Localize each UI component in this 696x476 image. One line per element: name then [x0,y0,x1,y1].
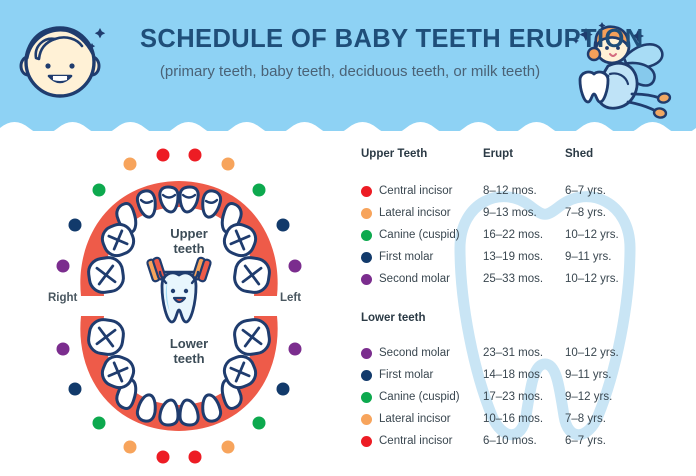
erupt-value: 10–16 mos. [483,414,543,426]
table-row: First molar 14–18 mos. 9–11 yrs. [352,366,682,387]
tooth-name: Canine (cuspid) [379,392,460,404]
table-row: Lateral incisor 9–13 mos. 7–8 yrs. [352,204,682,225]
dot-lateral-incisor [124,441,137,454]
erupt-value: 17–23 mos. [483,392,543,404]
shed-value: 9–11 yrs. [565,370,611,382]
shed-value: 9–12 yrs. [565,392,612,404]
table-row: Lateral incisor 10–16 mos. 7–8 yrs. [352,410,682,431]
tooth-name: Lateral incisor [379,414,451,426]
dot-central-incisor [157,149,170,162]
erupt-value: 13–19 mos. [483,252,543,264]
table-row: Second molar 23–31 mos. 10–12 yrs. [352,344,682,365]
row-color-dot [361,230,372,241]
dot-canine [93,417,106,430]
dot-first-molar [69,383,82,396]
erupt-value: 16–22 mos. [483,230,543,242]
erupt-value: 14–18 mos. [483,370,543,382]
row-color-dot [361,252,372,263]
sparkle-icon [89,28,105,49]
row-color-dot [361,414,372,425]
row-color-dot [361,348,372,359]
eruption-table-panel: Upper Teeth Erupt Shed Central incisor 8… [352,146,682,466]
row-color-dot [361,436,372,447]
left-side-label: Left [280,293,301,305]
mouth-diagram: Upper teeth Lower teeth Right Left [44,146,334,466]
dot-canine [253,184,266,197]
dot-central-incisor [189,451,202,464]
dot-canine [93,184,106,197]
dot-second-molar [289,260,302,273]
tooth-upper-second-molar [233,256,271,294]
erupt-value: 9–13 mos. [483,208,537,220]
dot-central-incisor [189,149,202,162]
table-row: Central incisor 8–12 mos. 6–7 yrs. [352,182,682,203]
erupt-value: 8–12 mos. [483,186,537,198]
shed-value: 7–8 yrs. [565,414,606,426]
dot-second-molar [57,260,70,273]
tooth-name: First molar [379,370,433,382]
tooth-lower-second-molar [87,318,125,356]
shed-value: 10–12 yrs. [565,230,619,242]
row-color-dot [361,370,372,381]
shed-value: 10–12 yrs. [565,348,619,360]
tooth-name: Lateral incisor [379,208,451,220]
boy-face-icon [16,16,116,112]
tooth-upper-second-molar [87,256,125,294]
table-row: Canine (cuspid) 16–22 mos. 10–12 yrs. [352,226,682,247]
dot-first-molar [277,219,290,232]
dot-lateral-incisor [222,441,235,454]
page-subtitle: (primary teeth, baby teeth, deciduous te… [140,64,560,79]
table-row: Canine (cuspid) 17–23 mos. 9–12 yrs. [352,388,682,409]
upper-teeth-label: Upper teeth [149,226,229,256]
shed-value: 7–8 yrs. [565,208,606,220]
tooth-lower-second-molar [233,318,271,356]
row-color-dot [361,186,372,197]
row-color-dot [361,392,372,403]
dot-first-molar [69,219,82,232]
tooth-name: First molar [379,252,433,264]
tooth-name: Central incisor [379,436,453,448]
tooth-icon [580,72,608,102]
column-header-erupt: Erupt [483,149,513,161]
dot-central-incisor [157,451,170,464]
erupt-value: 23–31 mos. [483,348,543,360]
lower-teeth-label: Lower teeth [149,336,229,366]
tooth-name: Central incisor [379,186,453,198]
column-header-shed: Shed [565,149,593,161]
table-header-row: Upper Teeth Erupt Shed [352,149,682,169]
dot-canine [253,417,266,430]
shed-value: 6–7 yrs. [565,186,606,198]
erupt-value: 25–33 mos. [483,274,543,286]
tooth-name: Second molar [379,348,450,360]
lower-arch [80,316,277,431]
table-row: Second molar 25–33 mos. 10–12 yrs. [352,270,682,291]
dot-first-molar [277,383,290,396]
dot-second-molar [289,343,302,356]
happy-tooth-lifting-barbell-icon [147,257,212,322]
infographic-root: SCHEDULE OF BABY TEETH ERUPTION (primary… [0,0,696,476]
shed-value: 10–12 yrs. [565,274,619,286]
erupt-value: 6–10 mos. [483,436,537,448]
right-side-label: Right [48,293,77,305]
section-header-lower-teeth: Lower teeth [361,313,426,325]
shed-value: 9–11 yrs. [565,252,611,264]
tooth-name: Canine (cuspid) [379,230,460,242]
mouth-diagram-svg [44,146,334,466]
dot-lateral-incisor [124,158,137,171]
column-header-upper-teeth: Upper Teeth [361,149,427,161]
dot-second-molar [57,343,70,356]
row-color-dot [361,274,372,285]
table-row: First molar 13–19 mos. 9–11 yrs. [352,248,682,269]
dot-lateral-incisor [222,158,235,171]
shed-value: 6–7 yrs. [565,436,606,448]
tooth-name: Second molar [379,274,450,286]
header-band: SCHEDULE OF BABY TEETH ERUPTION (primary… [0,0,696,137]
row-color-dot [361,208,372,219]
page-title: SCHEDULE OF BABY TEETH ERUPTION [140,27,560,53]
table-row: Central incisor 6–10 mos. 6–7 yrs. [352,432,682,453]
